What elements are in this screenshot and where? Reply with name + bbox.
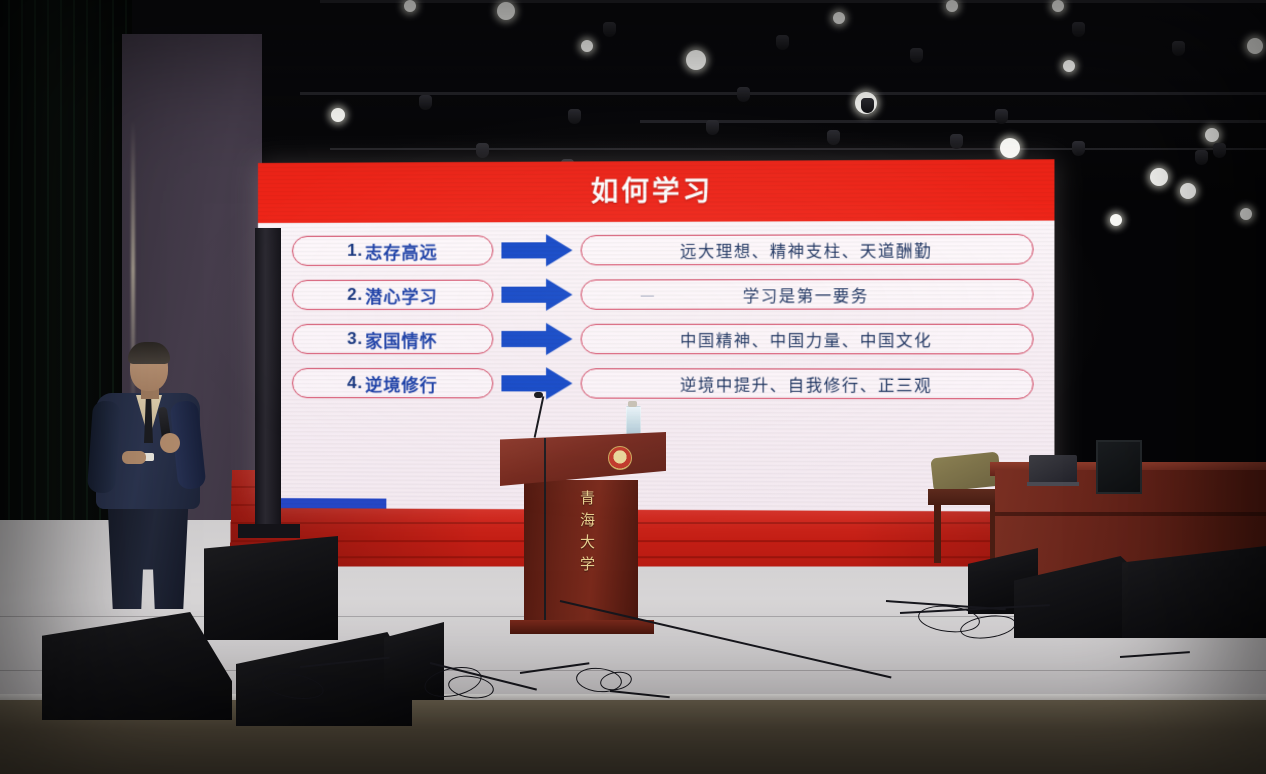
hanging-light-fixture: [1172, 41, 1185, 56]
slide-row-right-text: 逆境中提升、自我修行、正三观: [680, 371, 932, 396]
slide-row-right-pill: —学习是第一要务: [581, 279, 1034, 310]
hanging-light-fixture: [419, 95, 432, 110]
slide-row: 2.潜心学习—学习是第一要务: [258, 274, 1054, 315]
lighting-truss: [320, 0, 1266, 3]
slide-title: 如何学习: [258, 163, 1054, 219]
hanging-light-fixture: [1072, 22, 1085, 37]
presenter-hair: [128, 342, 170, 364]
slide-row-left-pill: 2.潜心学习: [292, 280, 493, 310]
right-arrow-icon: [501, 233, 574, 267]
podium-university-name: 青海大学: [568, 490, 598, 578]
stage-light: [1205, 128, 1219, 142]
hanging-light-fixture: [995, 109, 1008, 124]
presenter-legs: [106, 505, 190, 609]
slide-row: 4.逆境修行逆境中提升、自我修行、正三观: [258, 363, 1054, 404]
hanging-light-fixture: [568, 109, 581, 124]
slide-row-left-text: 潜心学习: [365, 282, 438, 307]
slide-row-right-text: 学习是第一要务: [743, 282, 869, 307]
slide-row-left-text: 家国情怀: [365, 326, 438, 351]
stage-light: [1247, 38, 1263, 54]
podium-base: [510, 620, 654, 634]
lighting-truss: [640, 120, 1266, 123]
slide-row-right-pill: 远大理想、精神支柱、天道酬勤: [581, 234, 1034, 266]
stage-light: [1052, 0, 1064, 12]
speaker-column-base: [238, 524, 300, 538]
laptop[interactable]: [1027, 455, 1079, 485]
right-arrow-icon: [501, 278, 574, 312]
stage-monitor-speaker: [204, 536, 338, 640]
hanging-light-fixture: [950, 134, 963, 149]
water-bottle-cap: [628, 401, 637, 407]
podium-microphone-head: [534, 392, 543, 398]
hanging-light-fixture: [737, 87, 750, 102]
stage-photograph: 如何学习 1.志存高远远大理想、精神支柱、天道酬勤2.潜心学习—学习是第一要务3…: [0, 0, 1266, 774]
slide-row-right-text: 中国精神、中国力量、中国文化: [680, 327, 932, 351]
slide-row-left-pill: 4.逆境修行: [292, 368, 493, 398]
water-bottle: [626, 406, 641, 438]
slide-row-number: 1.: [347, 241, 363, 261]
presenter-right-hand: [160, 433, 180, 453]
slide-row-left-text: 逆境修行: [365, 371, 438, 396]
speaker-column-tower: [255, 228, 281, 528]
hanging-light-fixture: [827, 130, 840, 145]
stage-light: [497, 2, 515, 20]
lighting-truss: [300, 92, 1266, 95]
slide-row-left-pill: 3.家国情怀: [292, 324, 493, 354]
slide-row-number: 3.: [347, 329, 363, 349]
laptop-keyboard-base: [1027, 482, 1079, 486]
slide-row-right-text: 远大理想、精神支柱、天道酬勤: [680, 237, 932, 262]
hanging-light-fixture: [1195, 150, 1208, 165]
slide-row: 3.家国情怀中国精神、中国力量、中国文化: [258, 319, 1054, 360]
presenter-left-hand: [122, 451, 146, 464]
chair-leg: [934, 505, 941, 563]
hanging-light-fixture: [1072, 141, 1085, 156]
stage-light: [404, 0, 416, 12]
hanging-light-fixture: [776, 35, 789, 50]
hanging-light-fixture: [1213, 143, 1226, 158]
stage-light: [1240, 208, 1252, 220]
slide-row-right-pill: 中国精神、中国力量、中国文化: [581, 324, 1034, 355]
stage-light: [331, 108, 345, 122]
slide-row-number: 4.: [347, 373, 363, 393]
stage-light: [1063, 60, 1075, 72]
hanging-light-fixture: [476, 143, 489, 158]
laptop-screen: [1029, 455, 1077, 483]
chair-seat: [928, 489, 1004, 505]
right-arrow-icon: [501, 322, 574, 356]
slide-row-right-pill: 逆境中提升、自我修行、正三观: [581, 368, 1034, 399]
hanging-light-fixture: [910, 48, 923, 63]
stage-light: [686, 50, 706, 70]
table-trim: [995, 512, 1266, 516]
slide-row-left-text: 志存高远: [365, 238, 438, 263]
podium-cable: [544, 438, 546, 624]
stage-light: [946, 0, 958, 12]
slide-row-dash: —: [641, 287, 656, 302]
slide-row: 1.志存高远远大理想、精神支柱、天道酬勤: [258, 229, 1054, 271]
hanging-light-fixture: [706, 120, 719, 135]
hanging-light-fixture: [603, 22, 616, 37]
presenter: [86, 345, 210, 613]
stage-light: [1150, 168, 1168, 186]
stage-light: [1110, 214, 1122, 226]
stage-light: [1000, 138, 1020, 158]
slide-row-number: 2.: [347, 285, 363, 305]
control-monitor: [1096, 440, 1142, 494]
stage-light: [581, 40, 593, 52]
stage-light: [833, 12, 845, 24]
stage-light: [1180, 183, 1196, 199]
slide-row-left-pill: 1.志存高远: [292, 235, 493, 266]
hanging-light-fixture: [861, 98, 874, 113]
university-emblem-icon: [608, 446, 632, 470]
lighting-truss: [330, 148, 1266, 150]
podium-top-desk: [500, 432, 666, 486]
